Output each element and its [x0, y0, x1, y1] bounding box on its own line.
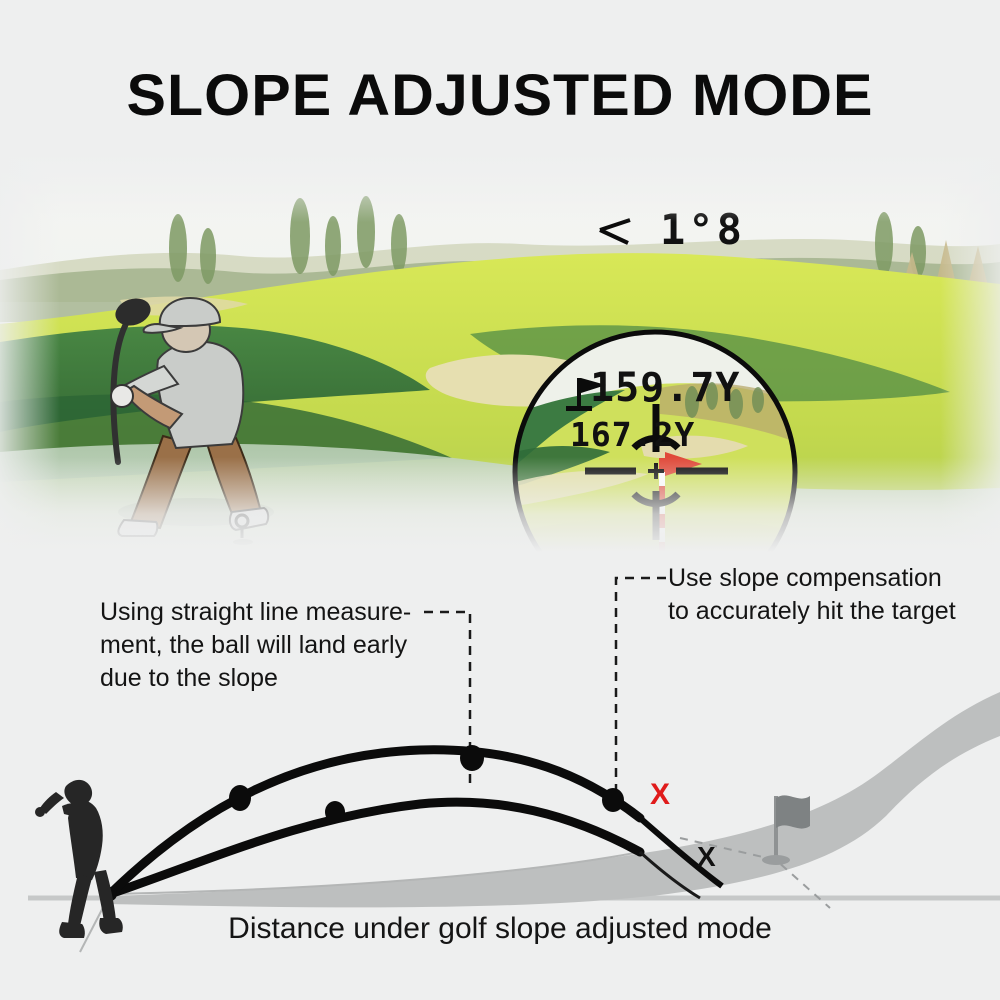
diagram-caption: Distance under golf slope adjusted mode: [0, 912, 1000, 946]
leader-line-right: [616, 578, 666, 798]
scope-primary-distance: 159.7Y: [590, 365, 741, 411]
page-title: SLOPE ADJUSTED MODE: [0, 62, 1000, 129]
target-flag-cloth: [776, 795, 810, 828]
scope-angle-value: 1°8: [660, 205, 745, 254]
trajectory-diagram: X X: [0, 560, 1000, 960]
trajectory-dot-upper-1: [229, 785, 251, 811]
scope-secondary-distance: 167.2Y: [570, 415, 695, 454]
trajectory-dot-end: [602, 788, 624, 812]
hero-photo: 1°8 159.7Y 167.2Y: [0, 152, 1000, 552]
golfer-torso: [157, 342, 243, 448]
golfer-glove: [111, 385, 133, 407]
infographic-root: SLOPE ADJUSTED MODE: [0, 0, 1000, 1000]
trajectory-dot-upper-apex: [460, 745, 484, 771]
trajectory-dot-lower-1: [325, 801, 345, 823]
golfer-shoe-left: [118, 520, 157, 536]
target-flag-base: [762, 855, 790, 865]
miss-marker-x: X: [650, 778, 670, 811]
